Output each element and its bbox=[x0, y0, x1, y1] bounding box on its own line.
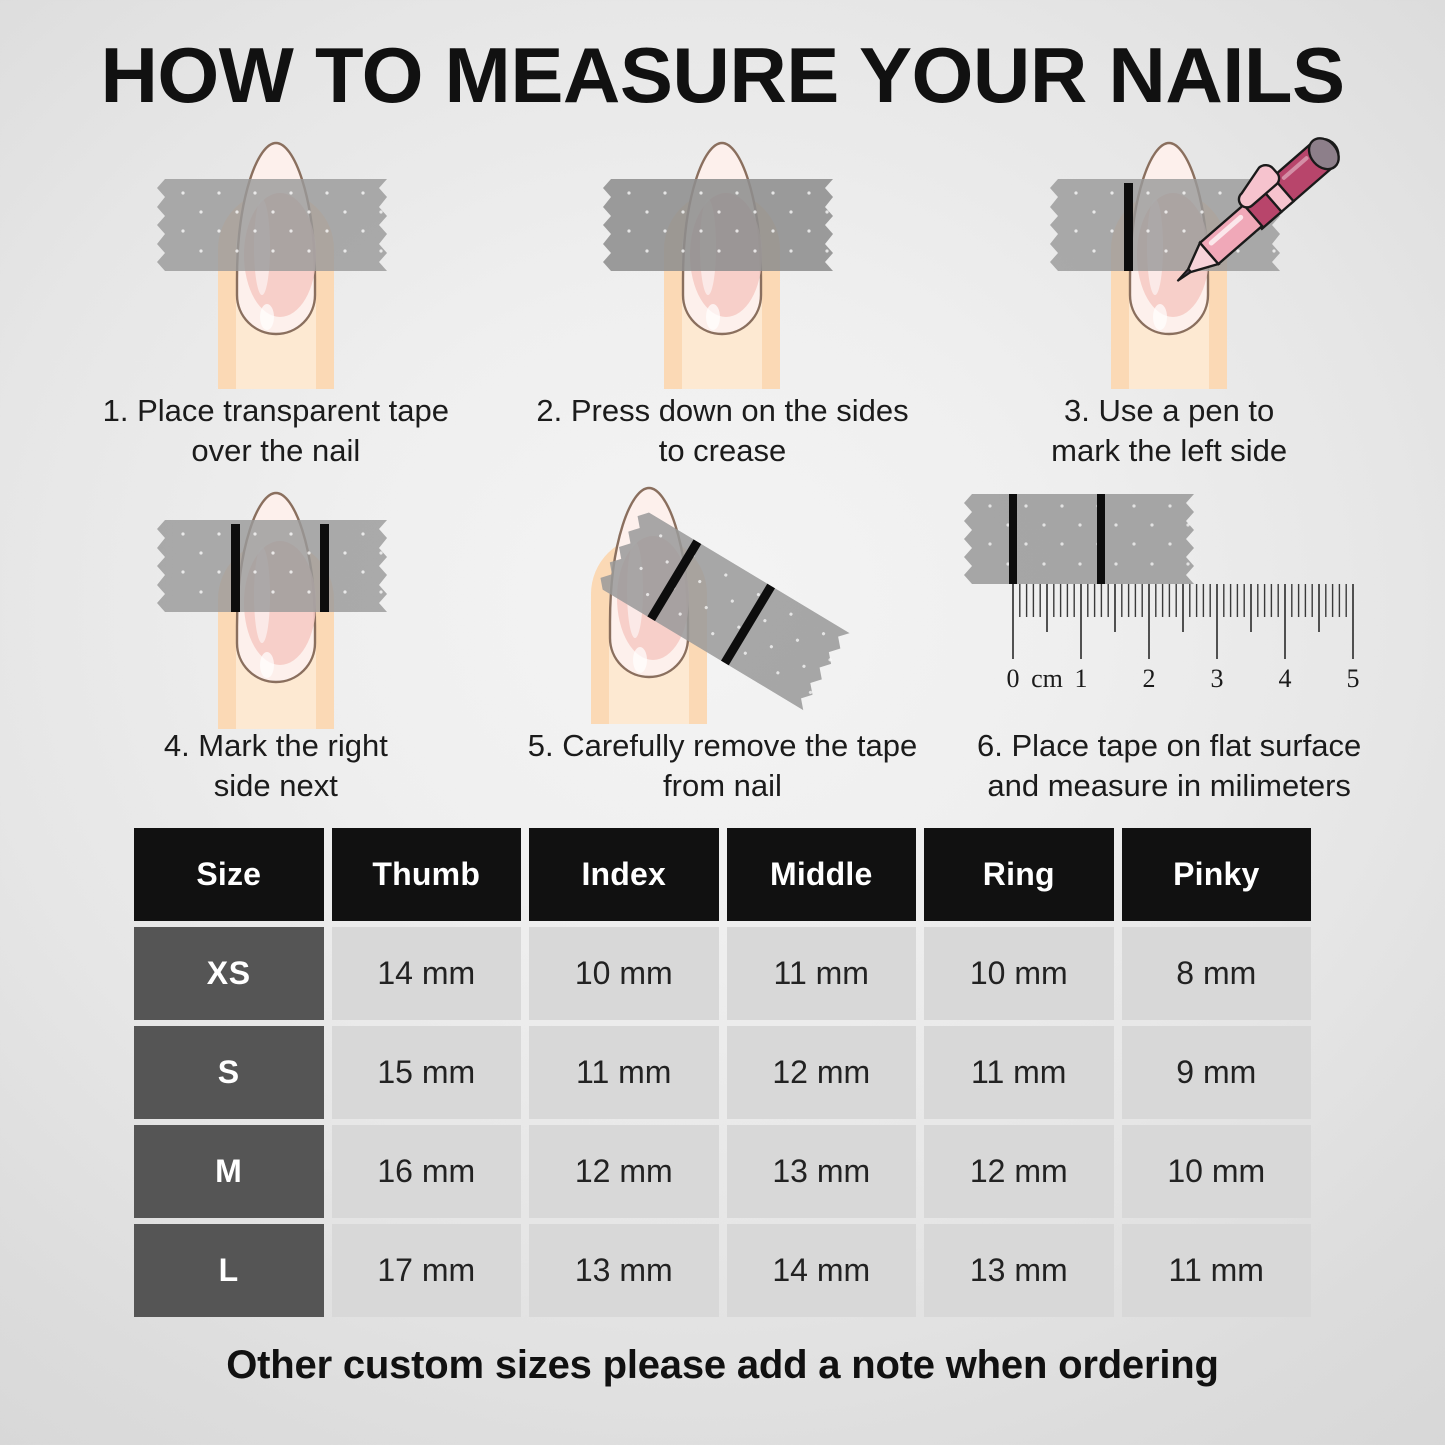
page-title: HOW TO MEASURE YOUR NAILS bbox=[0, 0, 1445, 121]
table-cell: 13 mm bbox=[529, 1224, 719, 1317]
table-header-size: Size bbox=[134, 828, 324, 921]
step-caption: 5. Carefully remove the tape from nail bbox=[512, 726, 932, 807]
table-cell: 15 mm bbox=[332, 1026, 522, 1119]
step-6: 0 cm 1 2 3 4 5 6. Place tape on flat sur… bbox=[946, 472, 1393, 807]
pen-mark-left bbox=[1124, 183, 1133, 271]
table-cell: 14 mm bbox=[727, 1224, 917, 1317]
step-1: 1. Place transparent tape over the nail bbox=[53, 127, 500, 472]
finger-tape-two-marks-icon bbox=[61, 472, 491, 724]
steps-grid: 1. Place transparent tape over the nail bbox=[53, 127, 1393, 806]
table-cell: 11 mm bbox=[1122, 1224, 1312, 1317]
pen-mark-left bbox=[1009, 494, 1017, 584]
ruler-tick-2: 2 bbox=[1143, 664, 1156, 693]
ruler-tick-5: 5 bbox=[1347, 664, 1360, 693]
table-cell: 10 mm bbox=[1122, 1125, 1312, 1218]
ruler-tick-4: 4 bbox=[1279, 664, 1292, 693]
table-cell: 17 mm bbox=[332, 1224, 522, 1317]
table-header-ring: Ring bbox=[924, 828, 1114, 921]
table-cell: 13 mm bbox=[924, 1224, 1114, 1317]
table-cell: 12 mm bbox=[924, 1125, 1114, 1218]
table-cell: 11 mm bbox=[924, 1026, 1114, 1119]
pen-mark-right bbox=[1097, 494, 1105, 584]
table-header-middle: Middle bbox=[727, 828, 917, 921]
pen-mark-left bbox=[231, 524, 240, 612]
tape-strip-icon bbox=[157, 179, 395, 271]
tape-strip-icon bbox=[157, 520, 395, 612]
table-row-size-label: XS bbox=[134, 927, 324, 1020]
step-caption: 1. Place transparent tape over the nail bbox=[66, 391, 486, 472]
table-cell: 14 mm bbox=[332, 927, 522, 1020]
table-cell: 12 mm bbox=[727, 1026, 917, 1119]
finger-tape-pen-icon bbox=[954, 127, 1384, 389]
table-cell: 12 mm bbox=[529, 1125, 719, 1218]
table-header-index: Index bbox=[529, 828, 719, 921]
ruler-tick-3: 3 bbox=[1211, 664, 1224, 693]
tape-peeled-off-icon bbox=[507, 472, 937, 724]
ruler-icon: 0 cm 1 2 3 4 5 bbox=[954, 472, 1384, 724]
step-caption: 6. Place tape on flat surface and measur… bbox=[959, 726, 1379, 807]
table-cell: 10 mm bbox=[529, 927, 719, 1020]
table-header-thumb: Thumb bbox=[332, 828, 522, 921]
step-4: 4. Mark the right side next bbox=[53, 472, 500, 807]
table-cell: 11 mm bbox=[529, 1026, 719, 1119]
table-header-pinky: Pinky bbox=[1122, 828, 1312, 921]
table-cell: 11 mm bbox=[727, 927, 917, 1020]
step-5: 5. Carefully remove the tape from nail bbox=[499, 472, 946, 807]
step-caption: 3. Use a pen to mark the left side bbox=[959, 391, 1379, 472]
pen-mark-right bbox=[320, 524, 329, 612]
table-row-size-label: L bbox=[134, 1224, 324, 1317]
tape-strip-icon bbox=[603, 179, 841, 271]
table-cell: 9 mm bbox=[1122, 1026, 1312, 1119]
finger-with-tape-icon bbox=[61, 127, 491, 389]
pen-icon bbox=[1144, 129, 1384, 309]
table-row-size-label: M bbox=[134, 1125, 324, 1218]
size-chart-table: Size Thumb Index Middle Ring Pinky XS 14… bbox=[134, 828, 1311, 1317]
table-cell: 16 mm bbox=[332, 1125, 522, 1218]
step-caption: 4. Mark the right side next bbox=[66, 726, 486, 807]
table-cell: 13 mm bbox=[727, 1125, 917, 1218]
table-row-size-label: S bbox=[134, 1026, 324, 1119]
table-cell: 10 mm bbox=[924, 927, 1114, 1020]
ruler-tick-0: 0 bbox=[1007, 664, 1020, 693]
custom-size-note: Other custom sizes please add a note whe… bbox=[0, 1343, 1445, 1388]
ruler-tick-1: 1 bbox=[1075, 664, 1088, 693]
step-3: 3. Use a pen to mark the left side bbox=[946, 127, 1393, 472]
ruler-unit-label: cm bbox=[1031, 664, 1063, 693]
step-2: 2. Press down on the sides to crease bbox=[499, 127, 946, 472]
finger-tape-pressed-icon bbox=[507, 127, 937, 389]
step-caption: 2. Press down on the sides to crease bbox=[512, 391, 932, 472]
table-cell: 8 mm bbox=[1122, 927, 1312, 1020]
tape-on-ruler-icon: 0 cm 1 2 3 4 5 bbox=[954, 472, 1384, 724]
